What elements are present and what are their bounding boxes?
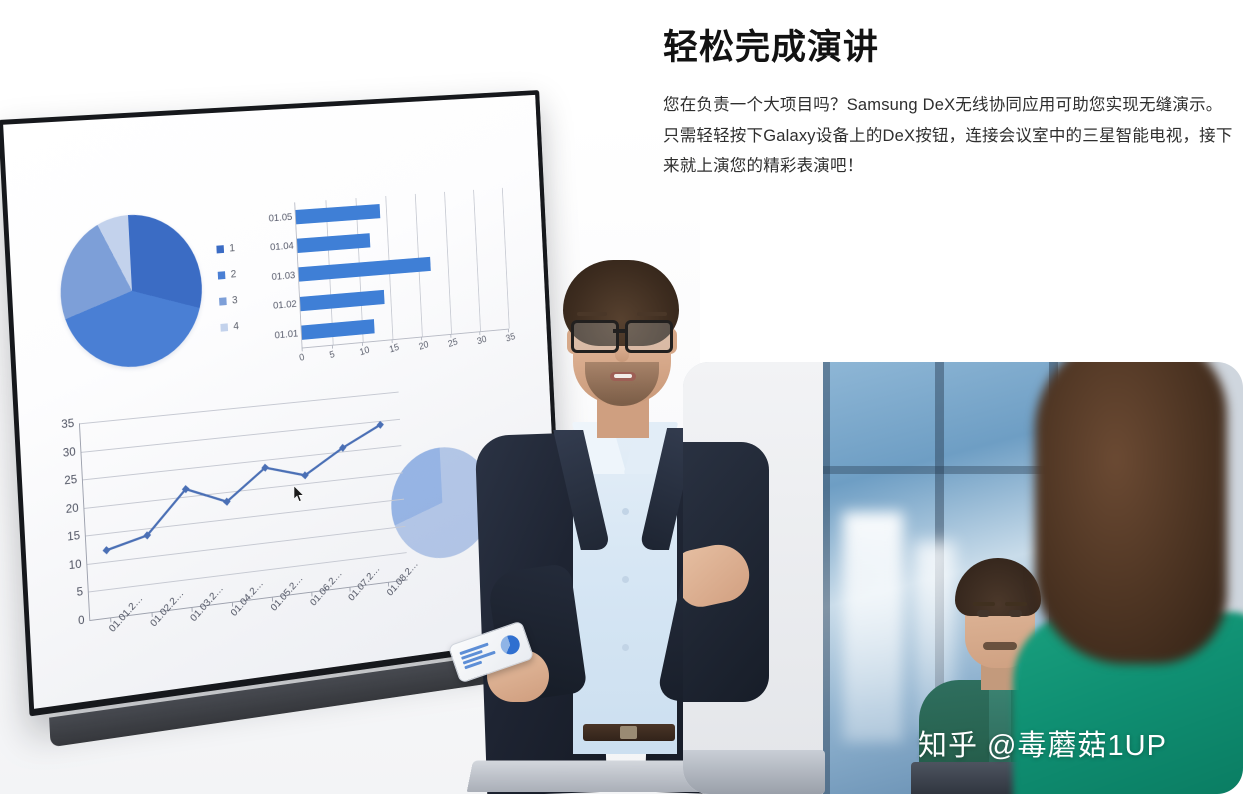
pie-legend-item: 3 bbox=[219, 287, 239, 315]
glasses-lens-right bbox=[625, 320, 673, 353]
axis-tick-label: 20 bbox=[49, 500, 78, 517]
axis-tick bbox=[421, 337, 422, 341]
pie-chart-disc bbox=[57, 210, 206, 373]
eyebrow-left bbox=[577, 312, 607, 316]
body-paragraph: 您在负责一个大项目吗？Samsung DeX无线协同应用可助您实现无缝演示。只需… bbox=[663, 90, 1235, 182]
meeting-tablet bbox=[683, 750, 825, 794]
bar-fill bbox=[301, 319, 374, 340]
pie-legend-item: 2 bbox=[217, 261, 237, 289]
eye-right bbox=[1009, 610, 1022, 617]
axis-tick-label: 5 bbox=[54, 585, 83, 602]
pie-chart: 1234 bbox=[47, 202, 271, 395]
bar-fill bbox=[295, 204, 380, 224]
line-chart: 05101520253035 01.01.2…01.02.2…01.03.2…0… bbox=[40, 385, 419, 698]
bar-category-label: 01.02 bbox=[256, 290, 297, 322]
legend-label: 3 bbox=[232, 294, 238, 306]
axis-tick-label: 25 bbox=[48, 472, 77, 489]
bar-category-label: 01.05 bbox=[252, 203, 293, 235]
bar-fill bbox=[297, 233, 370, 253]
axis-tick-label: 15 bbox=[388, 342, 400, 355]
pie-legend-item: 4 bbox=[220, 313, 240, 341]
axis-tick-label: 10 bbox=[359, 345, 371, 358]
legend-swatch bbox=[216, 245, 224, 253]
axis-tick-label: 0 bbox=[298, 352, 305, 364]
copy-block: 轻松完成演讲 您在负责一个大项目吗？Samsung DeX无线协同应用可助您实现… bbox=[663, 28, 1243, 182]
legend-label: 2 bbox=[230, 268, 236, 280]
legend-label: 1 bbox=[229, 242, 235, 254]
axis-tick bbox=[392, 339, 393, 343]
watermark: 知乎 @毒蘑菇1UP bbox=[918, 722, 1167, 764]
bar-category-label: 01.04 bbox=[253, 232, 294, 264]
phone-pie-chart bbox=[498, 633, 522, 657]
bar-fill bbox=[298, 257, 430, 282]
belt-buckle bbox=[620, 726, 637, 739]
mouse-pointer-icon bbox=[294, 486, 305, 502]
shirt-button bbox=[622, 576, 629, 583]
bar-category-label: 01.03 bbox=[255, 261, 296, 293]
axis-tick-label: 0 bbox=[55, 613, 84, 630]
axis-tick-label: 35 bbox=[45, 416, 75, 433]
page-title: 轻松完成演讲 bbox=[663, 28, 1243, 68]
shirt-button bbox=[622, 508, 629, 515]
foreground-colleague-hair bbox=[1035, 362, 1227, 664]
window-light-glow bbox=[843, 512, 903, 742]
eyebrow-right bbox=[1005, 602, 1027, 606]
promo-page: 1234 01.0501.0401.0301.0201.01 051015202… bbox=[0, 0, 1260, 794]
eyebrow-right bbox=[637, 312, 667, 316]
bar-category-label: 01.01 bbox=[258, 319, 299, 352]
eyebrow-left bbox=[973, 602, 995, 606]
teeth bbox=[614, 374, 632, 378]
eye-left bbox=[977, 610, 990, 617]
axis-tick bbox=[332, 345, 333, 349]
eyeglasses-icon bbox=[571, 320, 675, 348]
bar-fill bbox=[300, 290, 385, 311]
axis-tick-label: 30 bbox=[46, 444, 76, 461]
legend-swatch bbox=[220, 323, 228, 331]
axis-tick-label: 5 bbox=[329, 349, 336, 361]
legend-swatch bbox=[218, 271, 226, 279]
pie-legend-item: 1 bbox=[216, 235, 236, 262]
shirt-button bbox=[622, 644, 629, 651]
pie-chart-legend: 1234 bbox=[216, 235, 240, 341]
legend-label: 4 bbox=[233, 320, 239, 332]
glasses-lens-left bbox=[571, 320, 619, 353]
legend-swatch bbox=[219, 297, 227, 305]
axis-tick bbox=[302, 347, 303, 351]
glasses-bridge bbox=[613, 329, 625, 333]
axis-tick-label: 10 bbox=[52, 557, 81, 574]
axis-tick bbox=[450, 334, 451, 338]
axis-tick-label: 15 bbox=[51, 529, 80, 546]
axis-tick-label: 20 bbox=[418, 340, 430, 353]
moustache bbox=[983, 642, 1017, 650]
axis-tick bbox=[362, 342, 363, 346]
